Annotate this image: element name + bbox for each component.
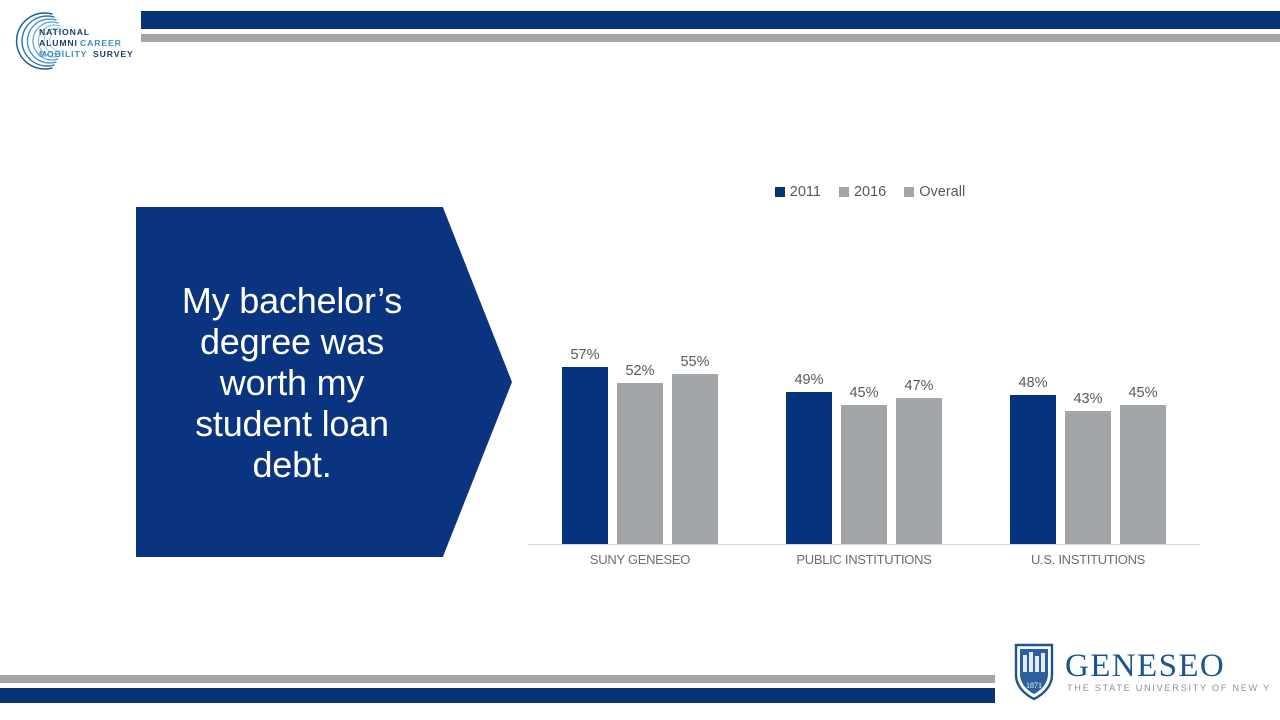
bar-value-label: 48%	[996, 375, 1070, 391]
bar-value-label: 55%	[658, 354, 732, 370]
slide-canvas: NATIONAL ALUMNI CAREER MOBILITY SURVEY M…	[0, 0, 1280, 720]
category-label: U.S. INSTITUTIONS	[976, 552, 1200, 567]
legend-swatch-icon	[775, 187, 785, 197]
legend-label: 2011	[790, 184, 821, 200]
nacm-line-3a: MOBILITY	[39, 49, 87, 59]
bar	[617, 383, 663, 544]
headline-callout: My bachelor’s degree was worth my studen…	[136, 207, 512, 557]
bar-item: 48%	[1010, 335, 1056, 544]
bar-item: 47%	[896, 335, 942, 544]
bar	[1120, 405, 1166, 545]
footer-accent-bar-gray	[0, 675, 995, 683]
nacm-logo: NATIONAL ALUMNI CAREER MOBILITY SURVEY	[8, 8, 140, 74]
bar-item: 52%	[617, 335, 663, 544]
bar	[896, 398, 942, 544]
legend-item: Overall	[904, 184, 965, 200]
bar-item: 45%	[841, 335, 887, 544]
bar-value-label: 47%	[882, 378, 956, 394]
header-accent-bar-gray	[141, 34, 1280, 42]
bar	[562, 367, 608, 544]
bar-item: 43%	[1065, 335, 1111, 544]
bar-group: 49% 45% 47%	[752, 335, 976, 544]
bar-item: 57%	[562, 335, 608, 544]
legend-item: 2016	[839, 184, 886, 200]
bar-item: 45%	[1120, 335, 1166, 544]
chart-legend: 2011 2016 Overall	[520, 180, 1220, 204]
bar-item: 55%	[672, 335, 718, 544]
headline-text: My bachelor’s degree was worth my studen…	[166, 207, 418, 557]
header-accent-bar-blue	[141, 11, 1280, 29]
bar-value-label: 57%	[548, 347, 622, 363]
bar	[841, 405, 887, 545]
bar-group: 57% 52% 55%	[528, 335, 752, 544]
legend-swatch-icon	[839, 187, 849, 197]
footer-accent-bar-blue	[0, 688, 995, 703]
geneseo-wordmark: GENESEO	[1065, 648, 1225, 684]
legend-swatch-icon	[904, 187, 914, 197]
nacm-line-2a: ALUMNI	[39, 38, 78, 48]
geneseo-logo-graphic: 1871 GENESEO THE STATE UNIVERSITY OF NEW…	[1003, 641, 1271, 703]
nacm-line-2b: CAREER	[80, 38, 122, 48]
bar-value-label: 45%	[1106, 385, 1180, 401]
bar-groups: 57% 52% 55% 49%	[528, 335, 1200, 544]
bar	[786, 392, 832, 544]
chart-category-labels: SUNY GENESEO PUBLIC INSTITUTIONS U.S. IN…	[528, 552, 1200, 567]
geneseo-logo: 1871 GENESEO THE STATE UNIVERSITY OF NEW…	[1003, 641, 1271, 703]
bar-chart: 2011 2016 Overall 57% 52%	[520, 180, 1220, 580]
nacm-line-1: NATIONAL	[39, 27, 90, 37]
geneseo-shield-year: 1871	[1026, 681, 1042, 690]
legend-label: 2016	[854, 184, 886, 200]
category-label: SUNY GENESEO	[528, 552, 752, 567]
bar-group: 48% 43% 45%	[976, 335, 1200, 544]
geneseo-shield-icon: 1871	[1016, 645, 1052, 699]
category-label: PUBLIC INSTITUTIONS	[752, 552, 976, 567]
bar-item: 49%	[786, 335, 832, 544]
legend-item: 2011	[775, 184, 821, 200]
chart-axis-line	[528, 544, 1200, 545]
nacm-line-3b: SURVEY	[93, 49, 134, 59]
legend-label: Overall	[919, 184, 965, 200]
bar	[1010, 395, 1056, 544]
geneseo-tagline: THE STATE UNIVERSITY OF NEW YORK	[1067, 683, 1271, 693]
nacm-logo-graphic: NATIONAL ALUMNI CAREER MOBILITY SURVEY	[8, 8, 140, 74]
chart-plot-area: 57% 52% 55% 49%	[528, 335, 1200, 545]
bar	[1065, 411, 1111, 544]
bar	[672, 374, 718, 545]
